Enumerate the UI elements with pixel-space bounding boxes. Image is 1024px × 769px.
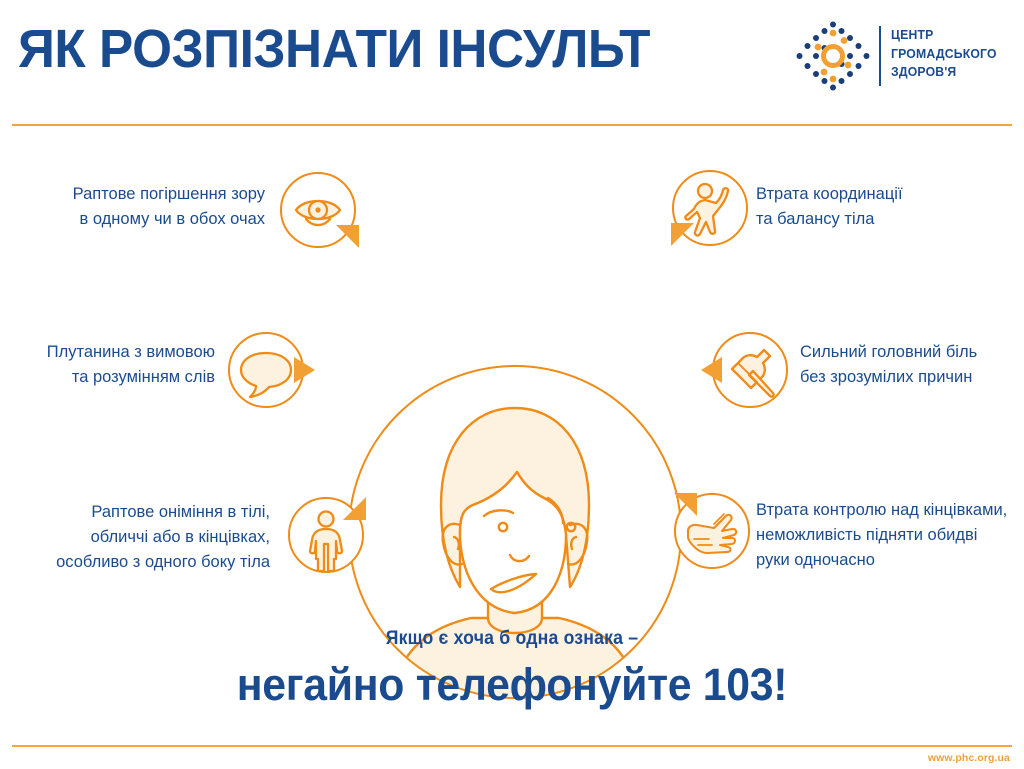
infographic-page: ЯК РОЗПІЗНАТИ ІНСУЛЬТ (0, 0, 1024, 769)
symptom-label-coordination: Втрата координації та балансу тіла (756, 182, 1006, 232)
hands-icon (674, 493, 750, 569)
footer-website[interactable]: www.phc.org.ua (928, 752, 1010, 764)
logo-line-3: ЗДОРОВ'Я (891, 63, 997, 82)
hammer-icon (712, 332, 788, 408)
symptom-icon-headache[interactable] (712, 332, 788, 408)
logo-wordmark: ЦЕНТР ГРОМАДСЬКОГО ЗДОРОВ'Я (891, 26, 997, 82)
symptom-icon-vision[interactable] (280, 172, 356, 248)
symptom-icon-speech[interactable] (228, 332, 304, 408)
call-to-action: Якщо є хоча б одна ознака – негайно теле… (0, 628, 1024, 711)
symptom-icon-numbness[interactable] (288, 497, 364, 573)
balance-person-icon (672, 170, 748, 246)
symptom-label-limb-control: Втрата контролю над кінцівками, неможлив… (756, 498, 1021, 573)
person-icon (288, 497, 364, 573)
speech-bubble-icon (228, 332, 304, 408)
symptom-icon-coordination[interactable] (672, 170, 748, 246)
symptom-label-vision: Раптове погіршення зору в одному чи в об… (20, 182, 265, 232)
header: ЯК РОЗПІЗНАТИ ІНСУЛЬТ (0, 0, 1024, 112)
footer-divider (12, 745, 1012, 747)
logo-line-2: ГРОМАДСЬКОГО (891, 45, 997, 64)
eye-icon (280, 172, 356, 248)
header-divider (12, 124, 1012, 126)
symptom-icon-limb-control[interactable] (674, 493, 750, 569)
logo: ЦЕНТР ГРОМАДСЬКОГО ЗДОРОВ'Я (795, 20, 1010, 92)
logo-divider (879, 26, 881, 86)
phc-sun-logo-icon (795, 20, 871, 92)
cta-headline: негайно телефонуйте 103! (26, 659, 999, 711)
symptoms-diagram: Раптове погіршення зору в одному чи в об… (0, 140, 1024, 610)
symptom-label-headache: Сильний головний біль без зрозумілих при… (800, 340, 1024, 390)
logo-line-1: ЦЕНТР (891, 26, 997, 45)
cta-subtitle: Якщо є хоча б одна ознака – (36, 628, 988, 650)
symptom-label-speech: Плутанина з вимовою та розумінням слів (20, 340, 215, 390)
page-title: ЯК РОЗПІЗНАТИ ІНСУЛЬТ (18, 18, 650, 80)
symptom-label-numbness: Раптове оніміння в тілі, обличчі або в к… (20, 500, 270, 575)
